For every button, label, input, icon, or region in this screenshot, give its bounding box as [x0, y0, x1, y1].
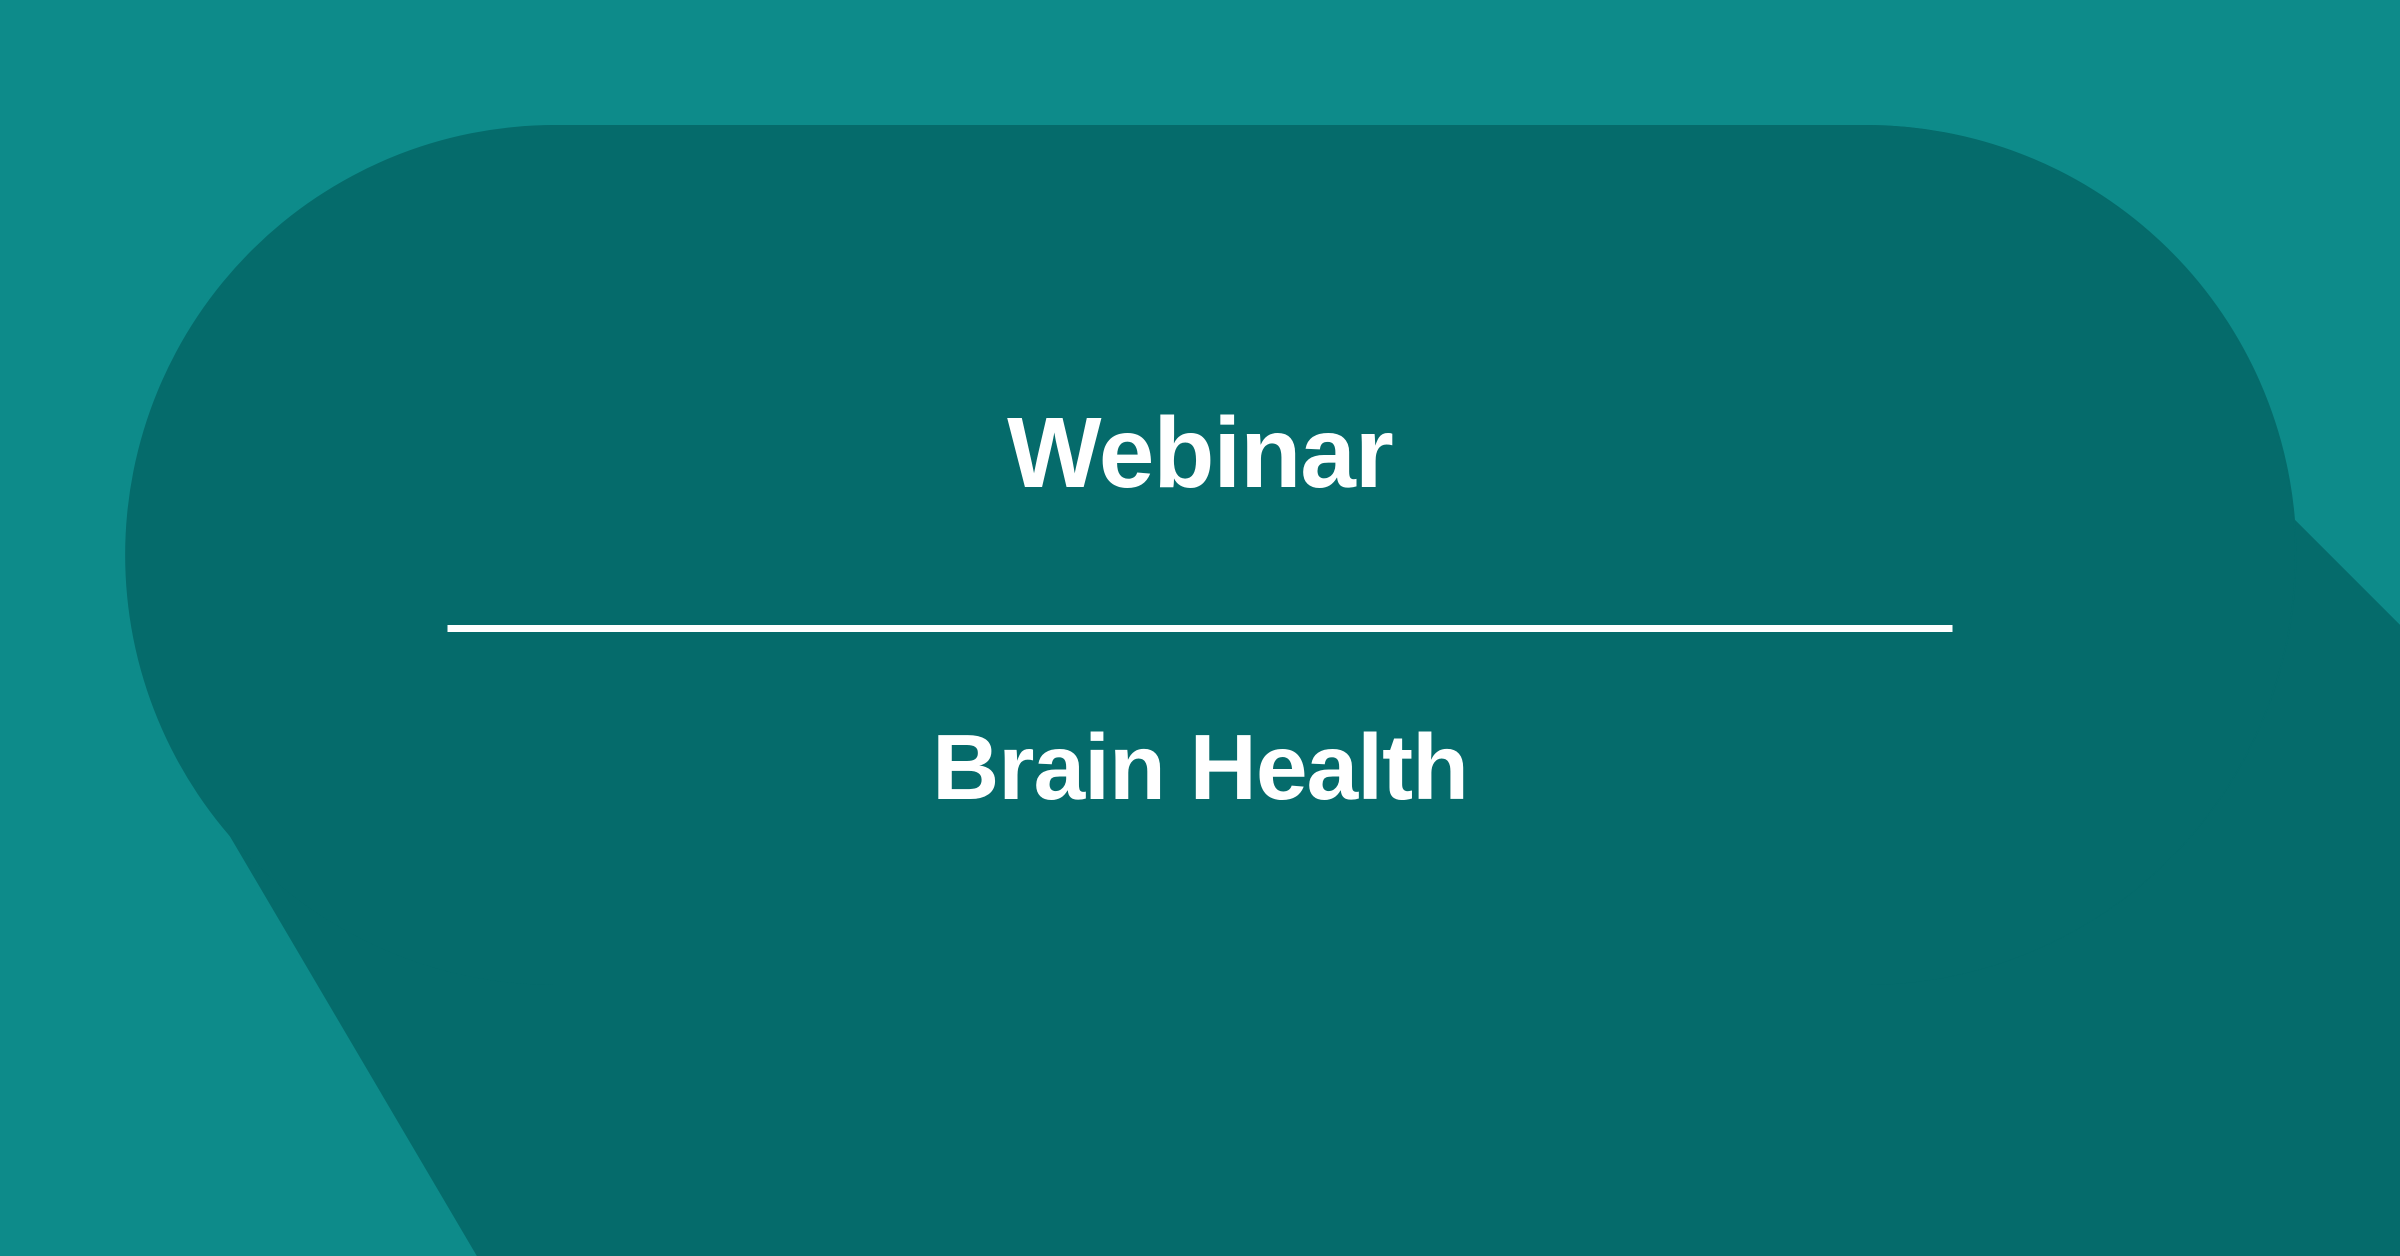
slide-canvas: Webinar Brain Health [0, 0, 2400, 1256]
slide-content: Webinar Brain Health [0, 0, 2400, 1256]
slide-eyebrow-title: Webinar [0, 398, 2400, 508]
slide-main-title: Brain Health [0, 716, 2400, 818]
title-divider-rule [448, 625, 1953, 632]
